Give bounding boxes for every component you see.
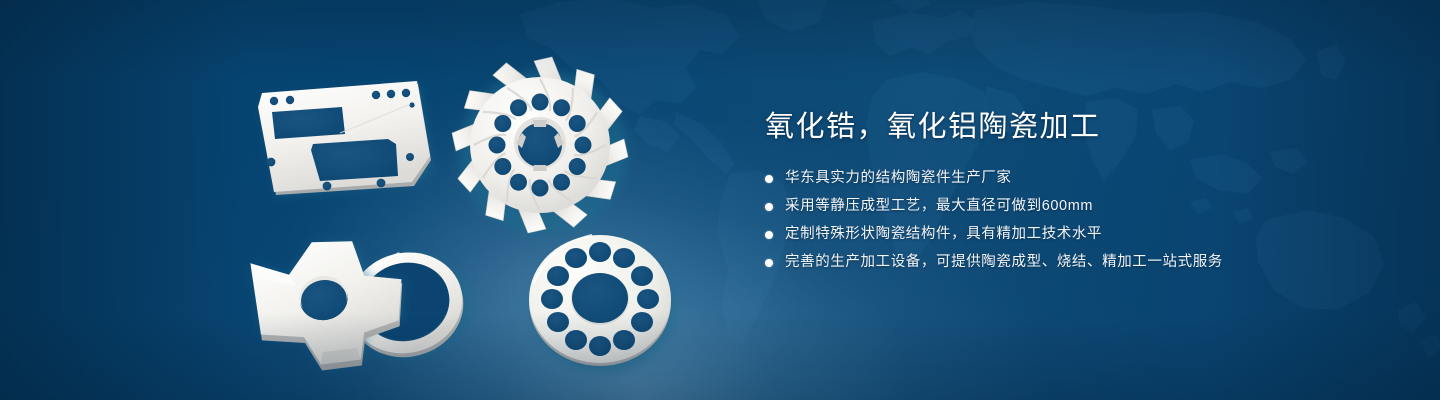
bullet-dot-icon [765, 259, 773, 267]
list-item: 定制特殊形状陶瓷结构件，具有精加工技术水平 [765, 224, 1385, 245]
bullet-dot-icon [765, 175, 773, 183]
list-item: 华东具实力的结构陶瓷件生产厂家 [765, 168, 1385, 189]
feature-list: 华东具实力的结构陶瓷件生产厂家 采用等静压成型工艺，最大直径可做到600mm 定… [765, 168, 1385, 273]
feature-text: 定制特殊形状陶瓷结构件，具有精加工技术水平 [785, 224, 1102, 245]
bullet-dot-icon [765, 231, 773, 239]
bullet-dot-icon [765, 203, 773, 211]
feature-text: 华东具实力的结构陶瓷件生产厂家 [785, 168, 1012, 189]
feature-text: 完善的生产加工设备，可提供陶瓷成型、烧结、精加工一站式服务 [785, 252, 1223, 273]
page-title: 氧化锆，氧化铝陶瓷加工 [765, 108, 1385, 146]
list-item: 完善的生产加工设备，可提供陶瓷成型、烧结、精加工一站式服务 [765, 252, 1385, 273]
list-item: 采用等静压成型工艺，最大直径可做到600mm [765, 196, 1385, 217]
feature-text: 采用等静压成型工艺，最大直径可做到600mm [785, 196, 1093, 217]
ceramic-processing-banner: 氧化锆，氧化铝陶瓷加工 华东具实力的结构陶瓷件生产厂家 采用等静压成型工艺，最大… [0, 0, 1440, 400]
banner-text-block: 氧化锆，氧化铝陶瓷加工 华东具实力的结构陶瓷件生产厂家 采用等静压成型工艺，最大… [765, 108, 1385, 280]
